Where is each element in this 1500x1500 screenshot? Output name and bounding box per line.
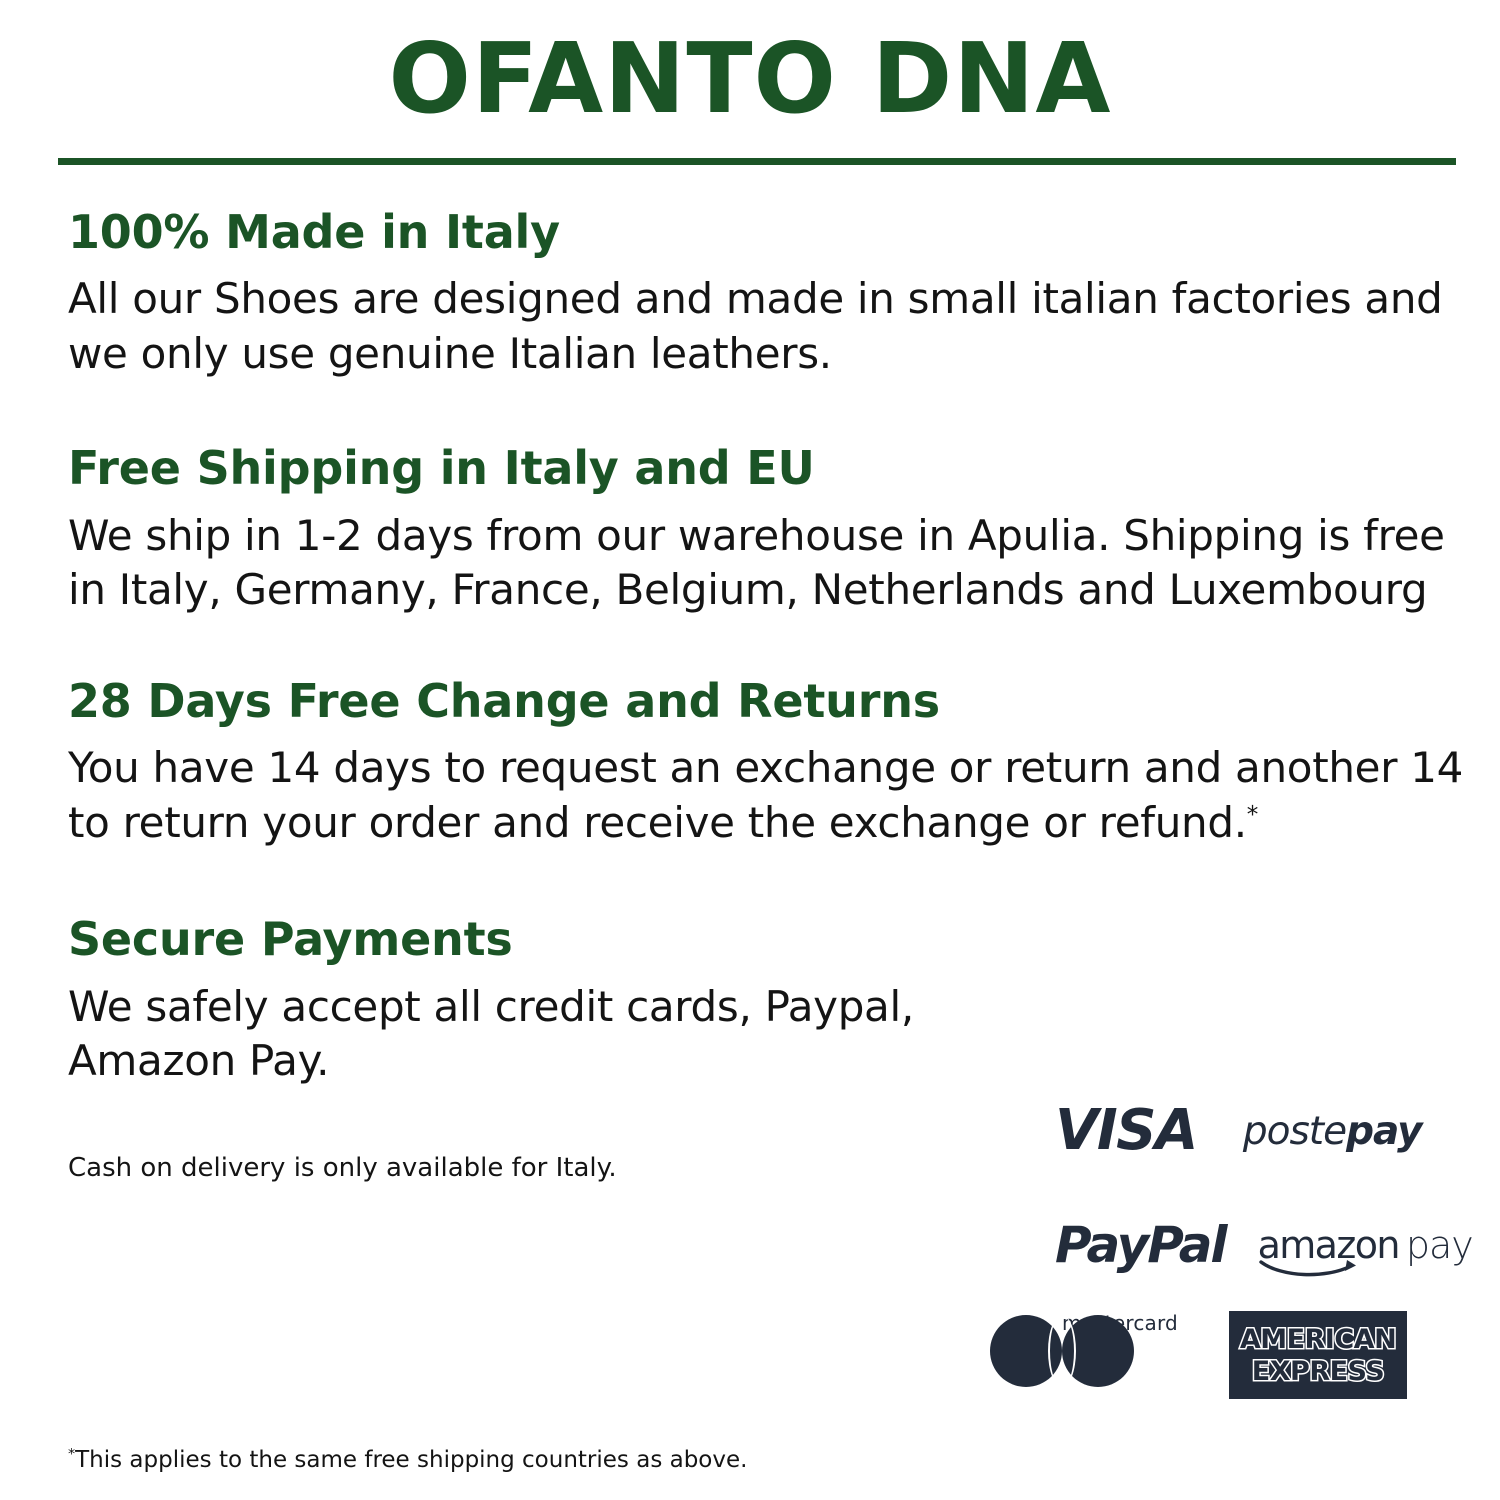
section-returns: 28 Days Free Change and Returns You have… bbox=[68, 674, 1468, 850]
postepay-icon-light-part: poste bbox=[1243, 1109, 1346, 1154]
page-title: OFANTO DNA bbox=[0, 26, 1500, 133]
american-express-icon-line2: EXPRESS bbox=[1252, 1358, 1384, 1385]
section-body-made-in-italy: All our Shoes are designed and made in s… bbox=[68, 272, 1468, 381]
payments-text-block: Secure Payments We safely accept all cre… bbox=[68, 912, 968, 1186]
paypal-icon: PayPal bbox=[1055, 1220, 1226, 1270]
payment-logos-row-2: PayPal amazonpay bbox=[1055, 1199, 1455, 1291]
section-heading-made-in-italy: 100% Made in Italy bbox=[68, 205, 1468, 259]
section-body-free-shipping: We ship in 1-2 days from our warehouse i… bbox=[68, 509, 1468, 618]
section-body-returns: You have 14 days to request an exchange … bbox=[68, 741, 1468, 850]
footnote-text: This applies to the same free shipping c… bbox=[75, 1447, 747, 1473]
american-express-icon-line1: AMERICAN bbox=[1240, 1326, 1396, 1353]
postepay-icon-bold-part: pay bbox=[1346, 1109, 1421, 1154]
page-root: OFANTO DNA 100% Made in Italy All our Sh… bbox=[0, 0, 1500, 1500]
section-heading-secure-payments: Secure Payments bbox=[68, 912, 968, 966]
mastercard-icon: mastercard bbox=[1055, 1311, 1185, 1335]
amazon-smile-arrow-icon bbox=[1259, 1257, 1369, 1279]
section-body-returns-text: You have 14 days to request an exchange … bbox=[68, 743, 1463, 847]
payment-logos-group: VISA postepay PayPal amazonpay masterc bbox=[1055, 1085, 1455, 1403]
section-heading-returns: 28 Days Free Change and Returns bbox=[68, 674, 1468, 728]
footnote: *This applies to the same free shipping … bbox=[68, 1445, 747, 1476]
visa-icon: VISA bbox=[1055, 1103, 1197, 1159]
section-made-in-italy: 100% Made in Italy All our Shoes are des… bbox=[68, 205, 1468, 381]
mastercard-overlap-seam bbox=[1048, 1315, 1076, 1387]
cash-on-delivery-note: Cash on delivery is only available for I… bbox=[68, 1151, 968, 1186]
payment-logos-row-3: mastercard AMERICAN EXPRESS bbox=[1055, 1311, 1455, 1403]
section-free-shipping: Free Shipping in Italy and EU We ship in… bbox=[68, 441, 1468, 617]
header-divider bbox=[58, 158, 1456, 165]
payment-logos-row-1: VISA postepay bbox=[1055, 1085, 1455, 1177]
content-column: 100% Made in Italy All our Shoes are des… bbox=[68, 205, 1468, 1186]
american-express-icon: AMERICAN EXPRESS bbox=[1229, 1311, 1407, 1399]
returns-asterisk-marker: * bbox=[1247, 802, 1258, 828]
section-body-secure-payments: We safely accept all credit cards, Paypa… bbox=[68, 980, 968, 1089]
section-heading-free-shipping: Free Shipping in Italy and EU bbox=[68, 441, 1468, 495]
amazon-pay-icon: amazonpay bbox=[1258, 1226, 1473, 1264]
postepay-icon: postepay bbox=[1243, 1112, 1422, 1151]
amazon-pay-icon-pay-word: pay bbox=[1406, 1223, 1473, 1267]
